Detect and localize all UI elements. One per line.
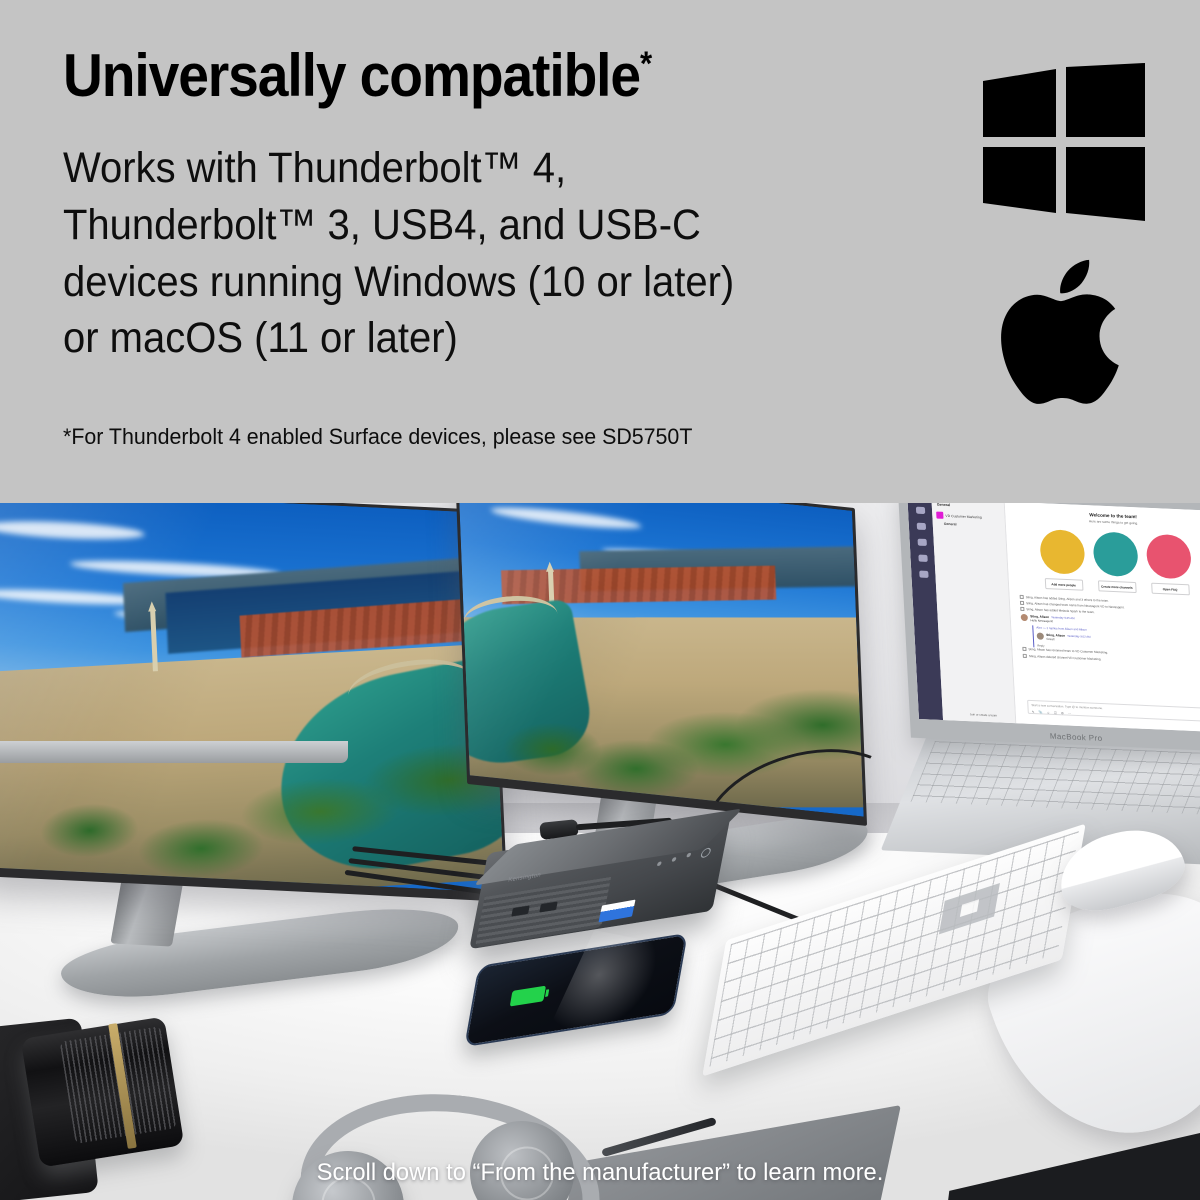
teams-main-panel: Welcome to the team! Here are some thing… <box>1005 503 1200 733</box>
headphone-brand-ring <box>318 1173 379 1200</box>
subcopy-line-3: devices running Windows (10 or later) <box>63 254 928 311</box>
laptop-screen: General VD Customer Marketing General Jo… <box>907 503 1200 733</box>
open-faq-button[interactable]: Open FAQ <box>1151 583 1190 596</box>
trash-icon <box>1023 653 1027 657</box>
rail-icon-chat[interactable] <box>916 523 925 530</box>
composer-toolbar[interactable]: ✎ 📎 ☺ ☑ ⚙ ⋯ <box>1032 710 1200 722</box>
card-illustration-channels <box>1092 531 1138 577</box>
laptop-macbook-pro: General VD Customer Marketing General Jo… <box>898 503 1200 752</box>
page-title: Universally compatible* <box>63 46 652 106</box>
onboarding-card[interactable]: Open FAQ <box>1145 534 1192 596</box>
composer-placeholder: Start a new conversation. Type @ to ment… <box>1031 703 1103 710</box>
title-asterisk: * <box>640 45 652 83</box>
person-add-icon <box>1020 607 1024 611</box>
laptop-base <box>0 741 348 763</box>
teams-message-composer[interactable]: Start a new conversation. Type @ to ment… <box>1027 700 1200 723</box>
headphone-brand-ring <box>497 1144 556 1200</box>
battery-charging-indicator <box>510 986 546 1007</box>
rail-icon-files[interactable] <box>919 571 928 578</box>
activity-text: Sting, Alison has added Melanie Spark to… <box>1026 608 1095 615</box>
subcopy-line-1: Works with Thunderbolt™ 4, <box>63 140 928 197</box>
avatar <box>1037 633 1044 640</box>
screen-glare <box>0 503 504 893</box>
edit-icon <box>1022 647 1026 651</box>
subcopy-line-4: or macOS (11 or later) <box>63 310 928 367</box>
windows-logo-icon <box>982 63 1146 223</box>
rail-icon-teams[interactable] <box>917 539 926 546</box>
add-more-people-button[interactable]: Add more people <box>1044 578 1083 591</box>
create-more-channels-button[interactable]: Create more channels <box>1097 580 1136 593</box>
monitor-left <box>0 503 508 902</box>
monitor-left-screen <box>0 503 504 893</box>
teams-app: General VD Customer Marketing General Jo… <box>907 503 1200 733</box>
rail-icon-activity[interactable] <box>915 507 924 514</box>
page-title-text: Universally compatible <box>63 42 640 109</box>
person-add-icon <box>1020 595 1024 599</box>
apple-logo-icon <box>998 252 1144 412</box>
promo-footnote: *For Thunderbolt 4 enabled Surface devic… <box>63 424 692 450</box>
keyboard-numpad-area <box>939 883 1000 934</box>
teams-conversation: Sting, Alison has added Sting, Alison an… <box>1020 595 1200 666</box>
rail-icon-calls[interactable] <box>918 555 927 562</box>
teams-sidebar[interactable]: General VD Customer Marketing General Jo… <box>931 503 1016 723</box>
promo-panel: Universally compatible* Works with Thund… <box>0 0 1200 503</box>
avatar <box>1021 614 1028 621</box>
onboarding-card[interactable]: Create more channels <box>1092 531 1139 593</box>
promo-subcopy: Works with Thunderbolt™ 4, Thunderbolt™ … <box>63 140 928 367</box>
dslr-camera-lens <box>21 1016 185 1167</box>
edit-icon <box>1020 601 1024 605</box>
activity-text: Sting, Alison deleted channel VD Custome… <box>1029 654 1102 661</box>
team-avatar <box>936 512 943 519</box>
teams-join-team-button[interactable]: Join or create a team <box>970 712 997 717</box>
card-illustration-faq <box>1145 534 1191 580</box>
subcopy-line-2: Thunderbolt™ 3, USB4, and USB-C <box>63 197 928 254</box>
card-illustration-add-people <box>1039 529 1085 575</box>
product-photo: General VD Customer Marketing General Jo… <box>0 503 1200 1200</box>
onboarding-card[interactable]: Add more people <box>1039 529 1086 591</box>
teams-onboarding-cards: Add more people Create more channels Ope… <box>1006 528 1200 597</box>
